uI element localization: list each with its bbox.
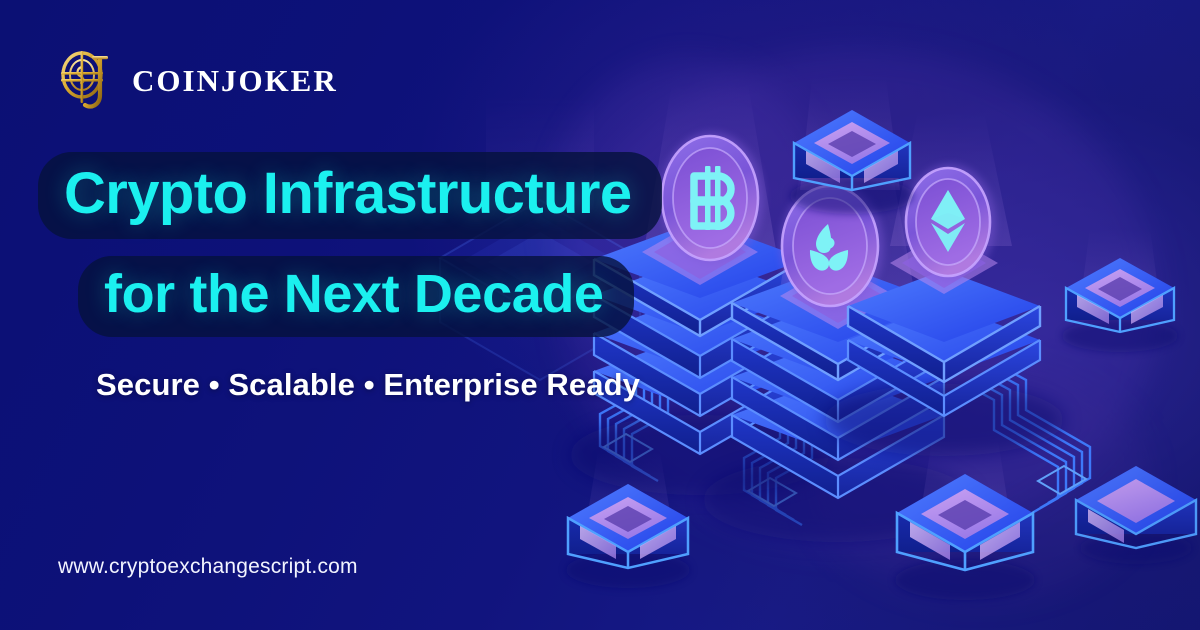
ethereum-coin-icon bbox=[904, 164, 996, 280]
website-url[interactable]: www.cryptoexchangescript.com bbox=[58, 555, 358, 579]
subtitle-text: Secure • Scalable • Enterprise Ready bbox=[96, 367, 640, 403]
bitcoin-coin-icon bbox=[660, 132, 764, 264]
headline-line-1: Crypto Infrastructure bbox=[38, 152, 662, 239]
brand-logo[interactable]: COINJOKER bbox=[56, 45, 338, 115]
promo-banner: COINJOKER Crypto Infrastructure for the … bbox=[0, 0, 1200, 630]
brand-name: COINJOKER bbox=[132, 65, 338, 96]
coinjoker-coin-logo-icon bbox=[56, 45, 118, 115]
headline-line-2: for the Next Decade bbox=[78, 256, 634, 337]
